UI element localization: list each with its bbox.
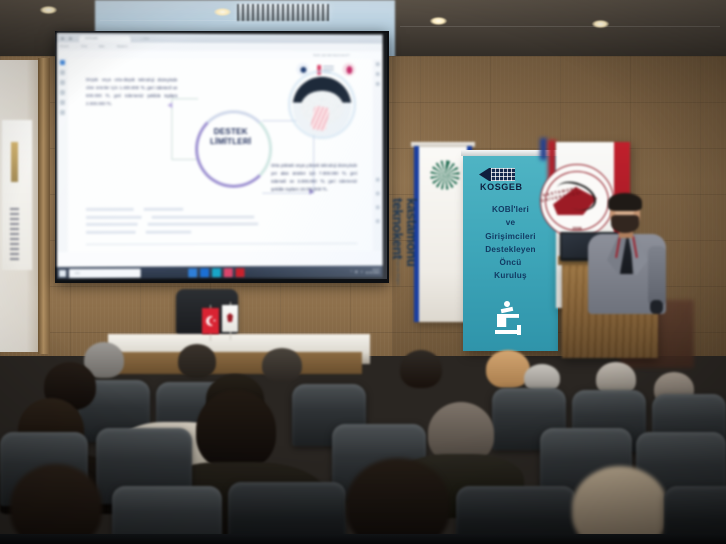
rail-app-icon[interactable]	[60, 60, 65, 65]
blue-flag	[540, 138, 547, 160]
teknokent-subtitle: Kastamonu Üniversitesi Teknoloji Gelişti…	[396, 202, 400, 298]
projection-screen: KOSGEB + Yeni Dosya Giriş Ekle Tasarım G…	[57, 33, 383, 279]
audience-head	[262, 348, 302, 382]
turkish-flag	[202, 308, 219, 334]
kosgeb-wordmark: KOSGEB	[480, 182, 523, 192]
center-title-line2: LİMİTLERİ	[210, 137, 251, 146]
speaker-at-podium	[588, 196, 666, 314]
ribbon-search-placeholder: Neler yapmak istiyorsunuz?	[313, 53, 349, 57]
taskbar-explorer-icon[interactable]	[200, 268, 209, 277]
slide-left-paragraph: Düşük veya orta-düşük teknoloji düzeyind…	[86, 76, 177, 109]
banknote-fan-photo	[293, 77, 352, 136]
rail-text-icon[interactable]	[60, 100, 65, 105]
audience-head	[10, 464, 102, 544]
taskbar-clock[interactable]: 14:27 11.04.2024	[365, 269, 379, 276]
speaker-arm	[648, 246, 666, 306]
audience-head	[196, 390, 276, 470]
rail-pointer-icon[interactable]	[60, 70, 65, 75]
conference-hall-photo: KOSGEB + Yeni Dosya Giriş Ekle Tasarım G…	[0, 0, 726, 544]
menu-item-ekle[interactable]: Ekle	[99, 44, 105, 48]
taskbar-tray[interactable]: ^ ▤ ◂ 14:27 11.04.2024	[350, 269, 379, 276]
windows-taskbar[interactable]: Ara ^ ▤ ◂ 14:27 11.04.2024	[57, 266, 383, 279]
menu-item-tasarim[interactable]: Tasarım	[117, 44, 128, 48]
slogan-line-5: Öncü	[463, 256, 558, 269]
center-title-line1: DESTEK	[214, 127, 248, 136]
kosgeb-mark-icon	[479, 168, 515, 181]
teknokent-logo-icon	[430, 160, 460, 190]
kosgeb-logo: KOSGEB	[479, 168, 542, 190]
ceiling-air-vent	[237, 4, 329, 21]
menu-item-dosya[interactable]: Dosya	[60, 44, 69, 48]
kosgeb-figure-icon	[491, 301, 531, 341]
speaker-beard	[611, 215, 639, 233]
audience-head	[178, 344, 216, 378]
slide-canvas: DESTEK LİMİTLERİ Düşük veya orta-düşük t…	[68, 58, 373, 252]
rail-shape-icon[interactable]	[60, 90, 65, 95]
slide-center-title: DESTEK LİMİTLERİ	[197, 127, 264, 147]
seated-audience	[0, 336, 726, 544]
tray-network-icon[interactable]: ▤	[355, 270, 358, 274]
partner-logo-icon	[297, 63, 310, 76]
right-rail-icon[interactable]	[376, 205, 380, 209]
rail-more-icon[interactable]	[60, 110, 65, 115]
speaker-hair	[608, 193, 642, 211]
teknokent-line1: kastamonu	[404, 198, 419, 267]
right-rail-icon[interactable]	[376, 192, 380, 196]
center-ring-shape	[195, 110, 272, 188]
browser-tab-label: KOSGEB	[85, 36, 98, 40]
slogan-line-6: Kuruluş	[463, 269, 558, 282]
menu-item-giris[interactable]: Giriş	[81, 44, 87, 48]
audience-head	[400, 350, 442, 388]
slogan-line-4: Destekleyen	[463, 243, 558, 256]
floor-strip	[0, 534, 726, 544]
rail-pen-icon[interactable]	[60, 80, 65, 85]
slide-right-paragraph: Orta yüksek veya yüksek teknoloji düzeyi…	[271, 162, 357, 194]
clock-date: 11.04.2024	[365, 272, 379, 275]
institution-flag	[222, 305, 238, 332]
slogan-line-3: Girişimcileri	[463, 230, 558, 243]
ceiling-downlight	[430, 17, 447, 25]
speaker-hand	[650, 300, 663, 314]
taskbar-app-icons[interactable]	[188, 268, 244, 277]
wall-column	[38, 58, 50, 354]
ceiling-downlight	[40, 6, 57, 14]
tray-volume-icon[interactable]: ◂	[361, 270, 363, 274]
right-rail-icon[interactable]	[376, 72, 380, 76]
right-rail-icon[interactable]	[376, 82, 380, 86]
ceiling-downlight	[214, 8, 231, 16]
browser-new-tab-label[interactable]: + Yeni	[141, 36, 149, 40]
tray-chevron-icon[interactable]: ^	[350, 270, 351, 274]
right-rail-icon[interactable]	[376, 62, 380, 66]
slide-footer-table	[86, 207, 357, 246]
taskbar-search-placeholder: Ara	[75, 271, 80, 275]
right-rail-icon[interactable]	[376, 219, 380, 223]
right-tool-rail[interactable]	[373, 59, 383, 251]
wall-poster-left	[2, 120, 32, 270]
taskbar-store-icon[interactable]	[212, 268, 221, 277]
start-button-icon[interactable]	[59, 269, 66, 276]
ceiling-downlight	[592, 20, 609, 28]
taskbar-edge-icon[interactable]	[188, 268, 197, 277]
right-rail-icon[interactable]	[376, 178, 380, 182]
taskbar-mail-icon[interactable]	[224, 268, 233, 277]
taskbar-powerpoint-icon[interactable]	[236, 268, 245, 277]
audience-head	[572, 466, 668, 544]
audience-head	[346, 458, 450, 544]
partner-logo-icon	[343, 63, 356, 76]
